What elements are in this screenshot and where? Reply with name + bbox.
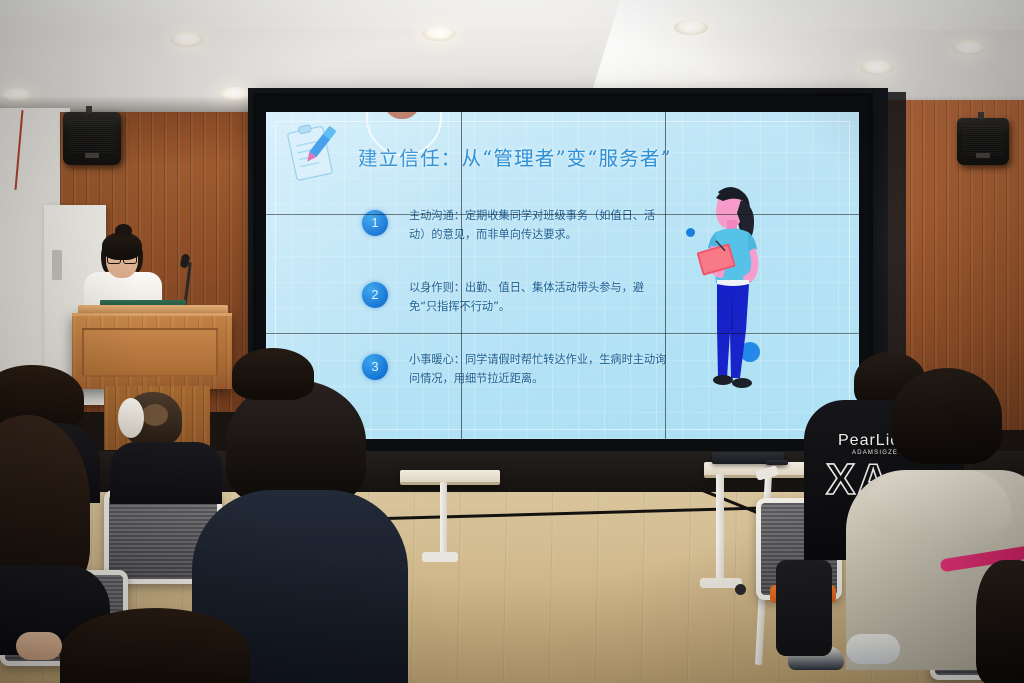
student-desk-center bbox=[400, 470, 500, 485]
desk-leg-right bbox=[716, 474, 724, 582]
lanyard-badge bbox=[118, 398, 144, 438]
bullet-text-2: 以身作则：出勤、值日、集体活动带头参与，避免“只指挥不行动”。 bbox=[409, 278, 669, 316]
shoe-right bbox=[846, 634, 900, 664]
speaker-logo-left bbox=[85, 153, 99, 158]
downlight-1 bbox=[170, 32, 204, 47]
desk-caster-right bbox=[735, 584, 746, 595]
wall-speaker-right bbox=[957, 118, 1009, 165]
panel-seam-h2 bbox=[256, 333, 870, 334]
panel-seam-h1 bbox=[256, 214, 870, 215]
speaker-bracket-left bbox=[86, 106, 92, 113]
desk-foot-center bbox=[422, 552, 458, 562]
trouser-leg bbox=[776, 560, 832, 656]
speaker-logo-right bbox=[976, 153, 990, 158]
panel-seam-v1 bbox=[461, 96, 462, 451]
presenter-hair-bun bbox=[115, 224, 132, 238]
downlight-4 bbox=[860, 60, 894, 75]
wooden-podium bbox=[72, 313, 232, 389]
downlight-2 bbox=[422, 26, 456, 41]
downlight-3 bbox=[674, 20, 708, 35]
downlight-10 bbox=[952, 40, 986, 55]
hair-hoodie-person bbox=[892, 368, 1002, 464]
bullet-number-3: 3 bbox=[362, 354, 388, 380]
hair-bun-back-center bbox=[142, 404, 168, 426]
hoodie-hood bbox=[862, 470, 1012, 536]
hair-left-back bbox=[232, 348, 314, 400]
bullet-text-1: 主动沟通：定期收集同学对班级事务（如值日、活动）的意见，而非单向传达要求。 bbox=[409, 206, 669, 244]
led-video-wall[interactable]: 建立信任：从“管理者”变“服务者” 1 主动沟通：定期收集同学对班级事务（如值日… bbox=[256, 96, 870, 451]
bullet-number-2: 2 bbox=[362, 282, 388, 308]
panel-seam-v2 bbox=[665, 96, 666, 451]
audience-hand bbox=[16, 632, 62, 660]
laptop-stylus bbox=[766, 460, 788, 465]
podium-front-panel bbox=[82, 328, 218, 377]
speaker-bracket-right bbox=[978, 112, 984, 119]
hair-far-right bbox=[976, 560, 1024, 683]
classroom-scene: 建立信任：从“管理者”变“服务者” 1 主动沟通：定期收集同学对班级事务（如值日… bbox=[0, 0, 1024, 683]
bullet-text-3: 小事暖心：同学请假时帮忙转达作业，生病时主动询问情况，用细节拉近距离。 bbox=[409, 350, 669, 388]
desk-leg-center bbox=[440, 482, 447, 560]
wall-speaker-left bbox=[63, 112, 121, 165]
torso-back-center bbox=[110, 442, 222, 504]
presentation-slide: 建立信任：从“管理者”变“服务者” 1 主动沟通：定期收集同学对班级事务（如值日… bbox=[266, 112, 859, 439]
cabinet-handle[interactable] bbox=[52, 250, 62, 280]
clipboard-pen-icon bbox=[284, 122, 348, 184]
slide-title: 建立信任：从“管理者”变“服务者” bbox=[358, 142, 672, 171]
presenter-glasses bbox=[107, 253, 137, 262]
